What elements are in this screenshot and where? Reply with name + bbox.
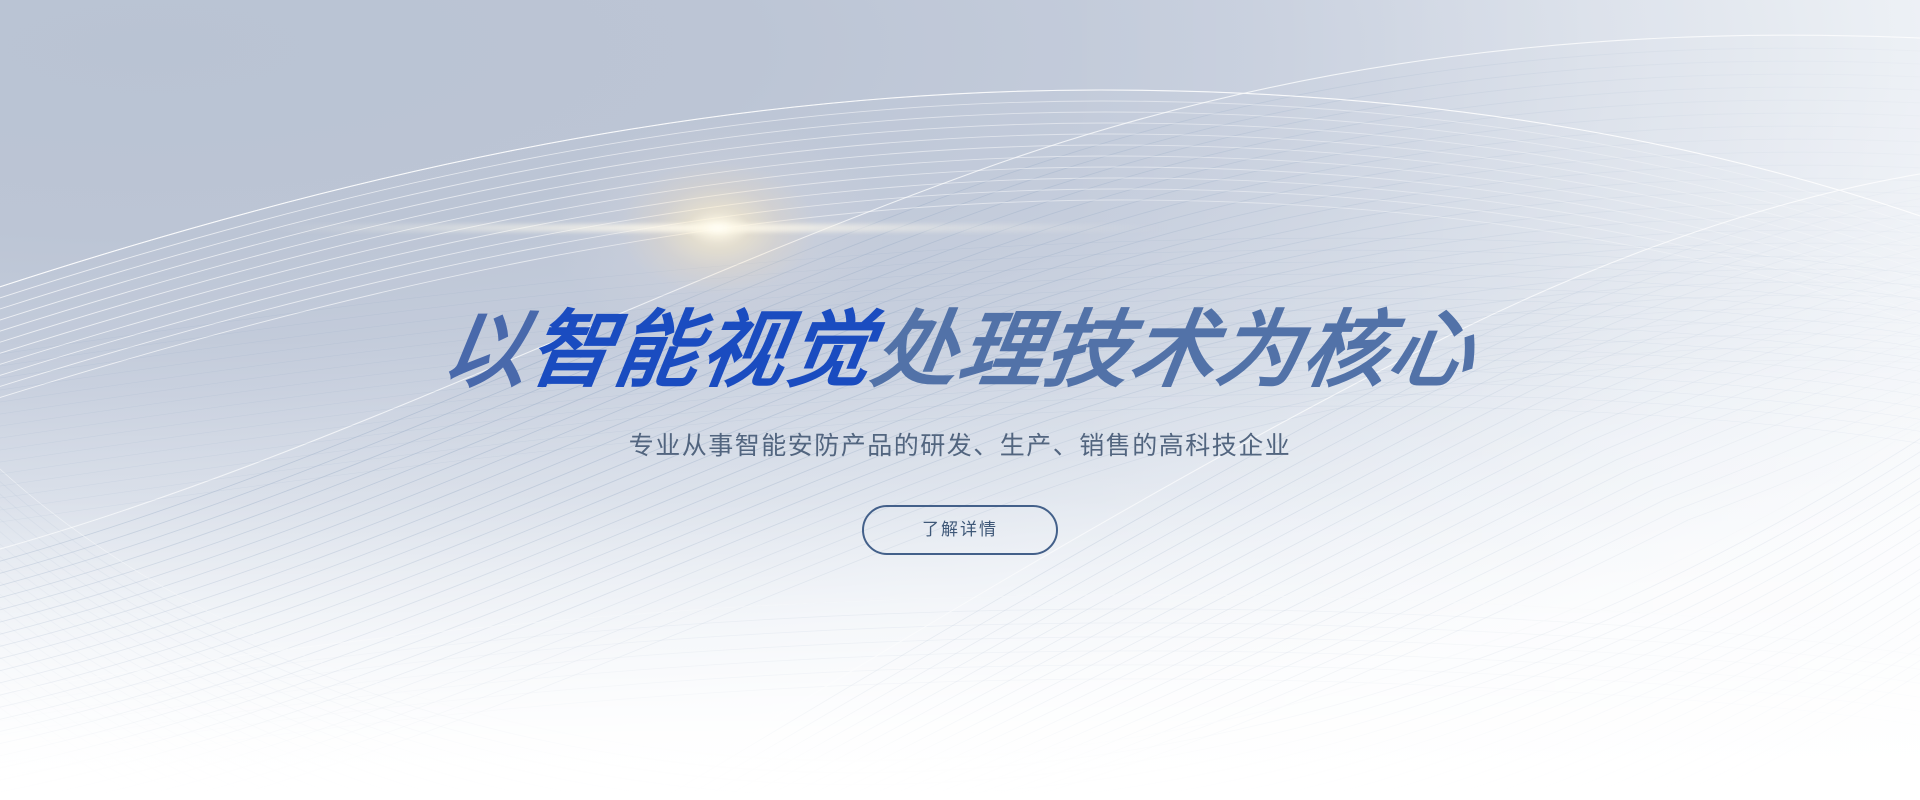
wave-mesh-decoration: [0, 0, 1920, 800]
bottom-light-wash: [0, 0, 1920, 800]
headline-segment-1: 以: [437, 308, 536, 392]
lens-flare-streak: [268, 224, 1168, 232]
lens-flare-core: [683, 215, 753, 241]
cta-container: 了解详情: [0, 505, 1920, 555]
page-title: 以智能视觉处理技术为核心: [0, 308, 1920, 392]
headline-segment-2: 智能视觉: [523, 308, 880, 392]
lens-flare-icon: [548, 113, 888, 343]
page-subtitle: 专业从事智能安防产品的研发、生产、销售的高科技企业: [0, 429, 1920, 464]
banner-content: 以智能视觉处理技术为核心 专业从事智能安防产品的研发、生产、销售的高科技企业 了…: [0, 0, 1920, 800]
right-light-wash: [0, 0, 1920, 800]
headline-segment-3: 处理技术为核心: [867, 308, 1482, 392]
hero-banner: 以智能视觉处理技术为核心 专业从事智能安防产品的研发、生产、销售的高科技企业 了…: [0, 0, 1920, 800]
learn-more-button[interactable]: 了解详情: [862, 505, 1058, 555]
